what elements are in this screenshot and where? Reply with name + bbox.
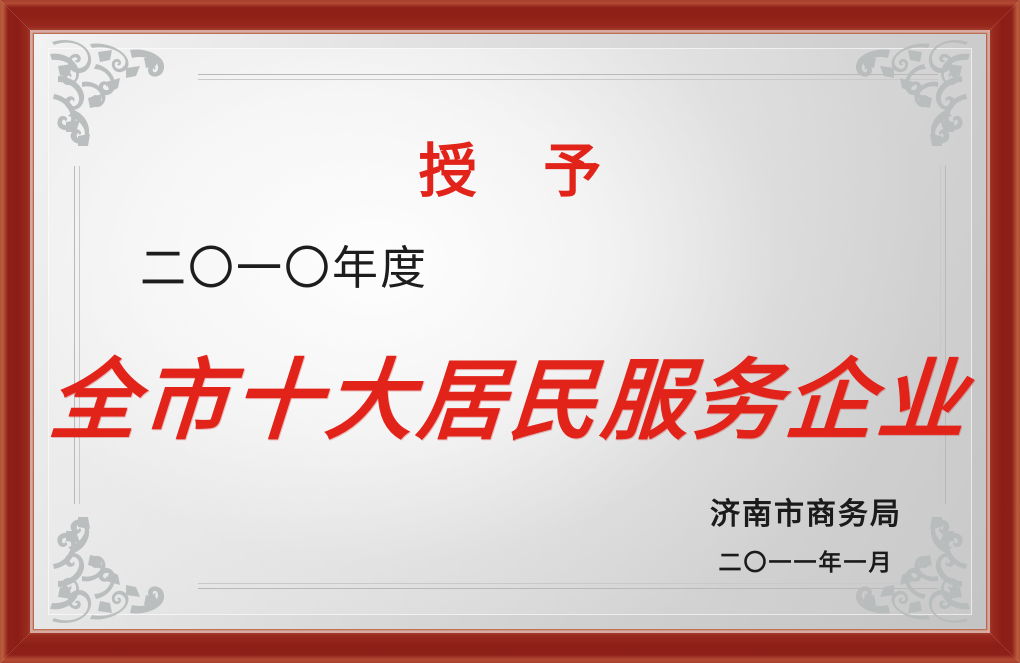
award-title-text: 全市十大居民服务企业 bbox=[0, 330, 1020, 457]
award-plaque: 授 予 二〇一〇年度 全市十大居民服务企业 济南市商务局 二〇一一年一月 bbox=[0, 0, 1020, 663]
issuer-signature-block: 济南市商务局 二〇一一年一月 bbox=[710, 498, 902, 577]
award-year-text: 二〇一〇年度 bbox=[140, 232, 428, 298]
award-verb-text: 授 予 bbox=[0, 124, 1020, 208]
issuer-organization-text: 济南市商务局 bbox=[710, 498, 902, 531]
plaque-content: 授 予 二〇一〇年度 全市十大居民服务企业 济南市商务局 二〇一一年一月 bbox=[0, 0, 1020, 663]
issue-date-text: 二〇一一年一月 bbox=[710, 543, 902, 577]
